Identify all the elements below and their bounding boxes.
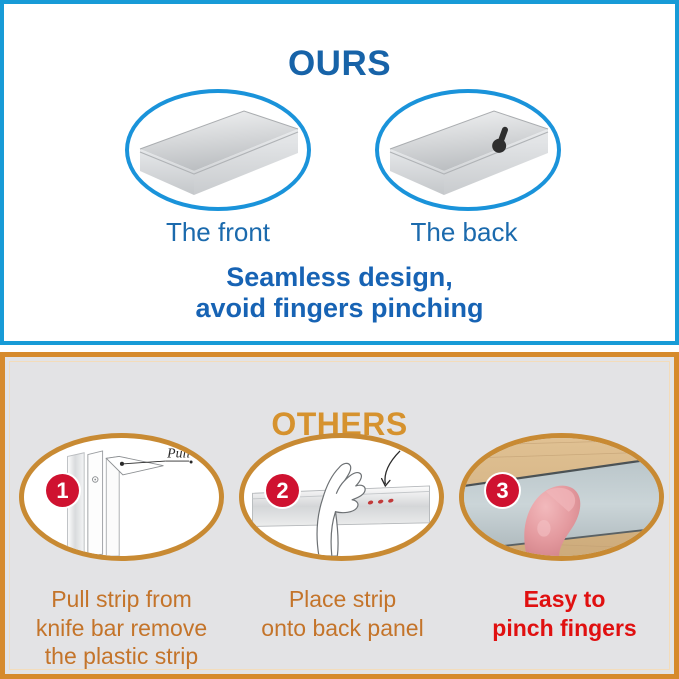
others-step-3: 3 [459, 433, 664, 561]
step-2-caption-line-2: onto back panel [233, 614, 452, 643]
ours-title: OURS [4, 44, 675, 84]
step-3-caption: Easy to pinch fingers [455, 585, 674, 642]
product-comparison-infographic: OURS [0, 0, 679, 679]
step-3-caption-line-1: Easy to [455, 585, 674, 614]
others-panel: OTHERS [0, 352, 679, 679]
step-2-caption: Place strip onto back panel [233, 585, 452, 642]
ours-front-caption: The front [103, 217, 333, 248]
pull-annotation-label: Pull [166, 445, 190, 460]
knife-bar-back-illustration [382, 97, 554, 203]
knife-bar-front-illustration [132, 97, 304, 203]
curved-arrow-icon [382, 451, 400, 486]
step-3-badge: 3 [486, 474, 519, 507]
step-1-caption-line-3: the plastic strip [12, 642, 231, 671]
others-step-1: Pull 1 [19, 433, 224, 561]
step-1-caption-line-1: Pull strip from [12, 585, 231, 614]
step-1-ellipse-frame: Pull 1 [19, 433, 224, 561]
step-1-caption: Pull strip from knife bar remove the pla… [12, 585, 231, 671]
ours-back-caption: The back [349, 217, 579, 248]
step-1-caption-line-2: knife bar remove [12, 614, 231, 643]
ours-tagline-line-1: Seamless design, [4, 262, 675, 293]
ours-tagline-line-2: avoid fingers pinching [4, 293, 675, 324]
step-3-ellipse-frame: 3 [459, 433, 664, 561]
step-3-caption-line-2: pinch fingers [455, 614, 674, 643]
ours-tagline: Seamless design, avoid fingers pinching [4, 262, 675, 325]
others-step-2: 2 [239, 433, 444, 561]
ours-panel: OURS [0, 0, 679, 345]
step-2-ellipse-frame: 2 [239, 433, 444, 561]
step-1-badge: 1 [46, 474, 79, 507]
step-2-caption-line-1: Place strip [233, 585, 452, 614]
step-2-badge: 2 [266, 474, 299, 507]
